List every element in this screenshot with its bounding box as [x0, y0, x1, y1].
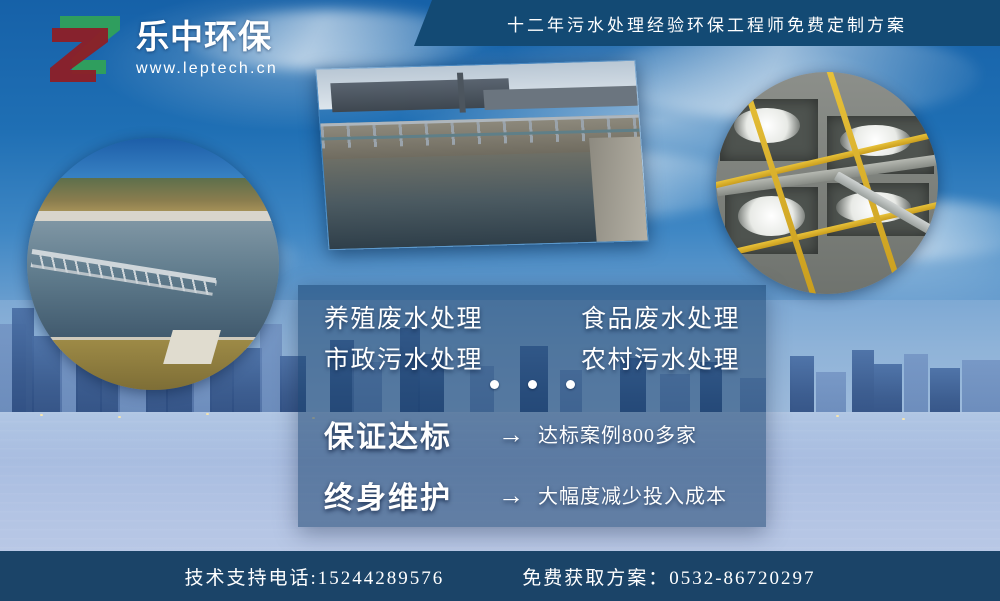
brand-logo[interactable]: 乐中环保 www.leptech.cn: [46, 12, 278, 86]
service-item[interactable]: 市政污水处理: [324, 340, 532, 376]
promise-detail: 大幅度减少投入成本: [538, 480, 727, 509]
service-item[interactable]: 养殖废水处理: [324, 299, 532, 335]
free-plan-phone-text[interactable]: 免费获取方案：0532-86720297: [522, 563, 815, 590]
promise-row: 终身维护 → 大幅度减少投入成本: [324, 464, 740, 525]
services-panel: 养殖废水处理 食品废水处理 市政污水处理 农村污水处理 保证达标 → 达标案例8…: [298, 285, 766, 527]
aeration-basin-photo: [716, 72, 938, 294]
dots-separator: [298, 380, 766, 389]
separator-dot: [528, 380, 537, 389]
company-website: www.leptech.cn: [136, 60, 278, 78]
leptech-z-logo-icon: [46, 12, 126, 86]
sedimentation-tank-photo: [27, 138, 279, 390]
company-name-cn: 乐中环保: [136, 20, 278, 55]
promotional-banner: 十二年污水处理经验环保工程师免费定制方案 乐中环保 www.leptech.cn: [0, 0, 1000, 601]
contact-bar: 技术支持电话:15244289576 免费获取方案：0532-86720297: [0, 551, 1000, 601]
service-item[interactable]: 农村污水处理: [532, 340, 740, 376]
promises-list: 保证达标 → 达标案例800多家 终身维护 → 大幅度减少投入成本: [298, 403, 766, 525]
treatment-plant-photo: [315, 60, 649, 250]
arrow-right-icon: →: [498, 482, 524, 508]
promise-detail: 达标案例800多家: [538, 419, 697, 448]
services-grid: 养殖废水处理 食品废水处理 市政污水处理 农村污水处理: [298, 299, 766, 376]
promise-row: 保证达标 → 达标案例800多家: [324, 403, 740, 464]
separator-dot: [490, 380, 499, 389]
separator-dot: [566, 380, 575, 389]
header-slogan-banner: 十二年污水处理经验环保工程师免费定制方案: [414, 0, 1000, 46]
arrow-right-icon: →: [498, 421, 524, 447]
support-phone-text[interactable]: 技术支持电话:15244289576: [184, 563, 444, 590]
service-item[interactable]: 食品废水处理: [532, 299, 740, 335]
header-slogan-text: 十二年污水处理经验环保工程师免费定制方案: [507, 11, 907, 36]
promise-headline: 保证达标: [324, 412, 496, 456]
promise-headline: 终身维护: [324, 473, 496, 517]
